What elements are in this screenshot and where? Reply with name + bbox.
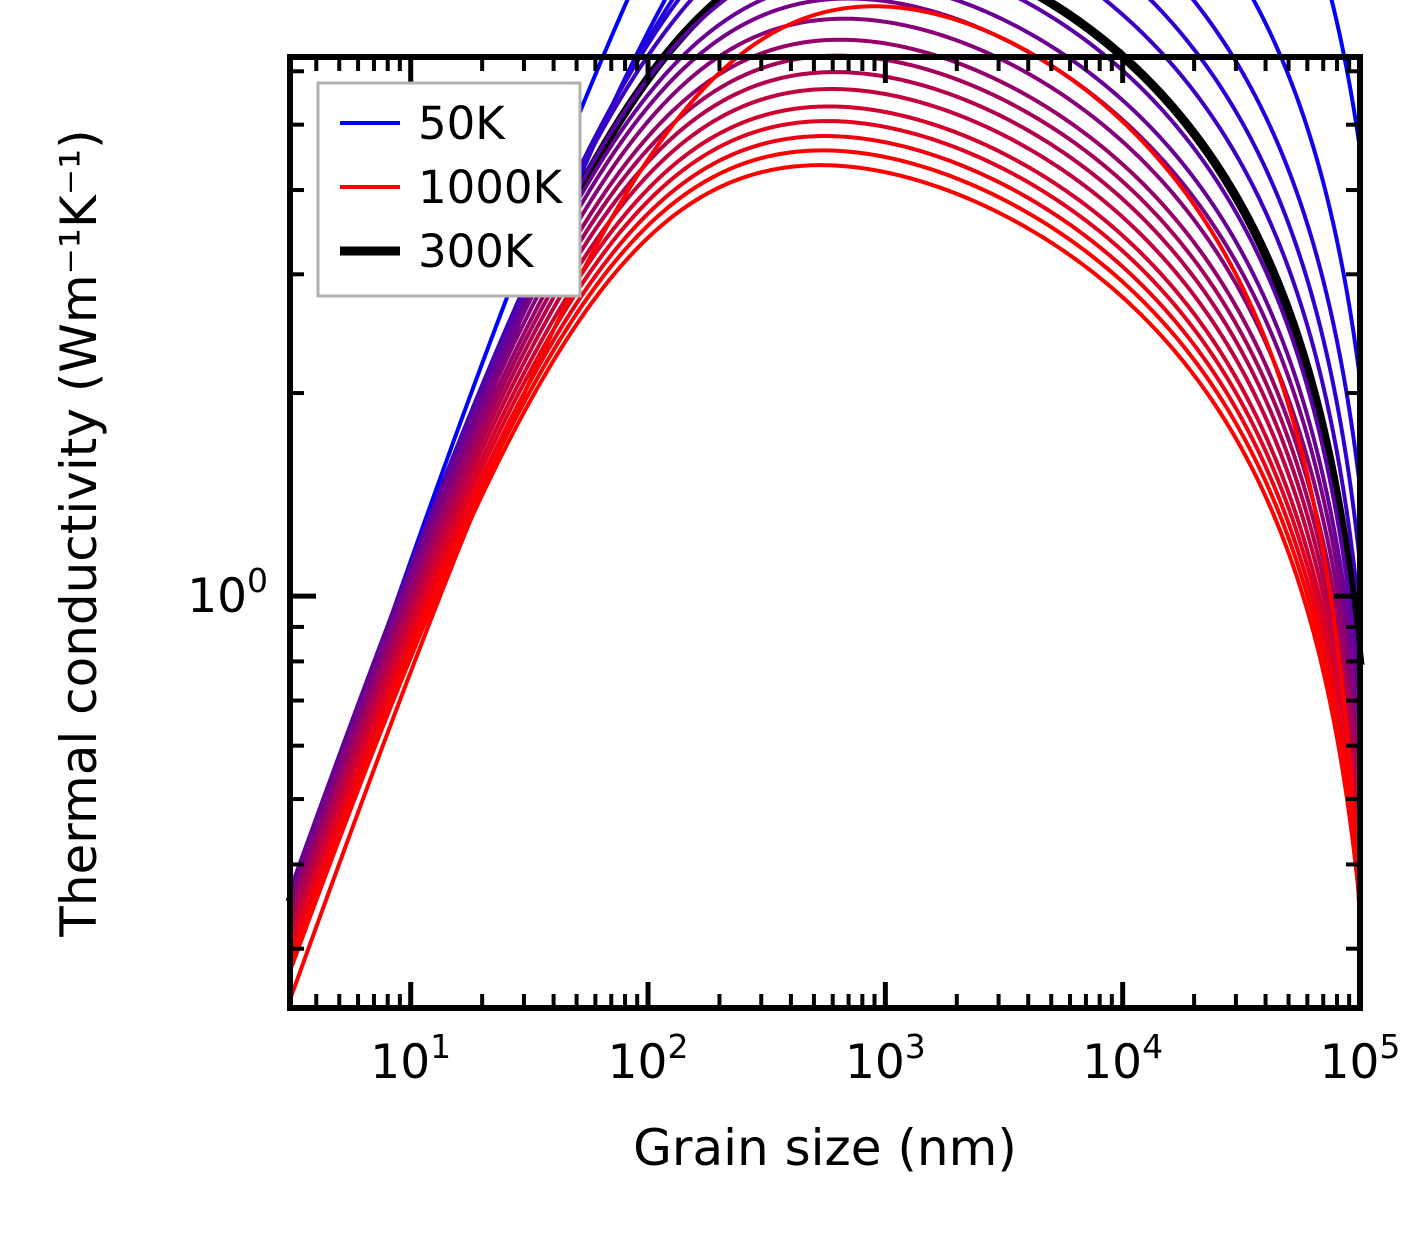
y-tick-label: 100 — [187, 561, 268, 624]
legend-label-300k[interactable]: 300K — [418, 225, 535, 278]
x-tick-label: 101 — [370, 1027, 451, 1090]
thermal-conductivity-chart: Thermal conductivity (Wm⁻¹K⁻¹) Grain siz… — [0, 0, 1421, 1254]
y-axis-label: Thermal conductivity (Wm⁻¹K⁻¹) — [50, 129, 108, 937]
x-tick-labels: 101102103104105 — [370, 1027, 1400, 1090]
x-tick-label: 103 — [845, 1027, 926, 1090]
figure-canvas: Thermal conductivity (Wm⁻¹K⁻¹) Grain siz… — [0, 0, 1421, 1254]
x-tick-label: 105 — [1320, 1027, 1401, 1090]
legend-label-50k[interactable]: 50K — [418, 97, 506, 150]
x-tick-label: 104 — [1082, 1027, 1163, 1090]
x-axis-label: Grain size (nm) — [633, 1119, 1017, 1177]
legend-label-1000k[interactable]: 1000K — [418, 161, 564, 214]
legend[interactable]: 50K1000K300K — [318, 83, 580, 296]
y-tick-labels: 100 — [187, 561, 268, 624]
x-tick-label: 102 — [608, 1027, 689, 1090]
